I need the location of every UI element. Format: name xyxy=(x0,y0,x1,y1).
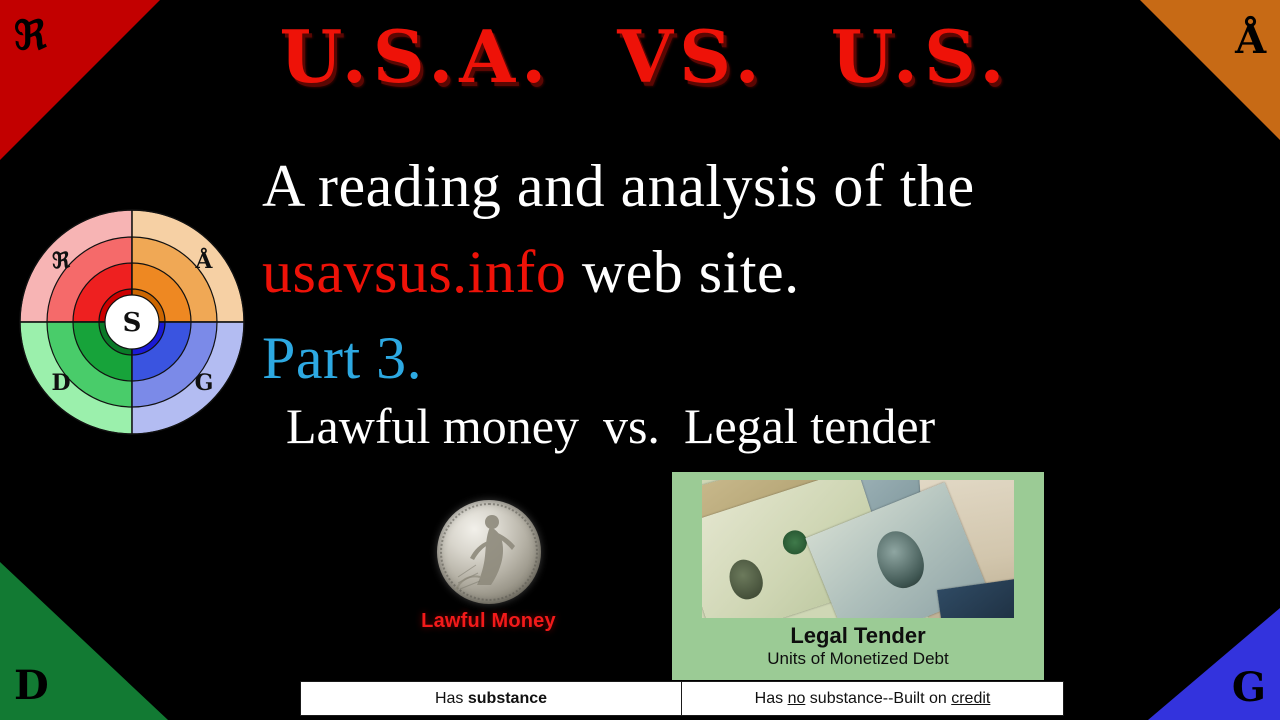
slide-canvas: ℜ Å D G U.S.A. VS. U.S. A reading and an… xyxy=(0,0,1280,720)
comparison-heading-left: Lawful money xyxy=(286,398,579,454)
corner-letter-d: D xyxy=(14,666,49,706)
wheel-letter-a: Å xyxy=(194,247,213,274)
subtitle-line-1: A reading and analysis of the xyxy=(262,143,1162,229)
page-title: U.S.A. VS. U.S. xyxy=(0,14,1280,99)
radgs-wheel-logo: S ℜ Å D G xyxy=(16,206,248,438)
title-part-usa: U.S.A. xyxy=(280,14,553,99)
world-banknotes-image: 1000 xyxy=(702,480,1014,618)
cell-text-underline-credit: credit xyxy=(951,690,990,707)
walking-liberty-figure xyxy=(454,507,524,593)
subtitle-line-3: Part 3. xyxy=(262,315,1162,401)
site-name-link[interactable]: usavsus.info xyxy=(262,239,566,305)
part-number-label: Part 3. xyxy=(262,325,422,391)
table-row: Has substance Has no substance--Built on… xyxy=(301,682,1064,716)
wheel-letter-d: D xyxy=(51,370,70,396)
comparison-heading-middle: vs. xyxy=(579,398,684,454)
legal-tender-subtitle: Units of Monetized Debt xyxy=(702,649,1014,669)
title-part-us: U.S. xyxy=(831,14,1011,99)
title-part-vs: VS. xyxy=(617,14,765,99)
legal-tender-title: Legal Tender xyxy=(702,624,1014,648)
wheel-letter-r: ℜ xyxy=(52,248,71,274)
cell-text-pre: Has xyxy=(755,690,788,707)
table-cell-legal-substance: Has no substance--Built on credit xyxy=(682,682,1064,716)
cell-text-bold: substance xyxy=(468,690,547,707)
table-cell-lawful-substance: Has substance xyxy=(301,682,682,716)
banknote-usd-portrait xyxy=(725,555,768,603)
comparison-heading: Lawful moneyvs.Legal tender xyxy=(286,396,935,456)
wheel-letter-g: G xyxy=(195,370,214,396)
cell-text-mid: substance--Built on xyxy=(805,690,951,707)
corner-letter-g: G xyxy=(1232,668,1266,708)
comparison-table: Has substance Has no substance--Built on… xyxy=(300,681,1064,716)
lawful-money-panel: Lawful Money xyxy=(416,500,561,633)
cell-text-prefix: Has xyxy=(435,690,468,707)
subtitle-line-2: usavsus.info web site. xyxy=(262,229,1162,315)
subtitle-block: A reading and analysis of the usavsus.in… xyxy=(262,143,1162,401)
lawful-money-label: Lawful Money xyxy=(416,610,561,633)
cell-text-underline-no: no xyxy=(788,690,806,707)
subtitle-line-2-tail: web site. xyxy=(566,239,799,305)
title-spacer-1 xyxy=(552,14,617,99)
comparison-heading-right: Legal tender xyxy=(684,398,935,454)
silver-eagle-coin-image xyxy=(437,500,541,604)
legal-tender-panel: 1000 Legal Tender Units of Monetized Deb… xyxy=(672,472,1044,680)
banknote-gbp-portrait xyxy=(869,524,932,594)
wheel-center-letter-s: S xyxy=(123,308,142,338)
banknote-usd-seal xyxy=(780,527,810,557)
title-spacer-2 xyxy=(766,14,831,99)
